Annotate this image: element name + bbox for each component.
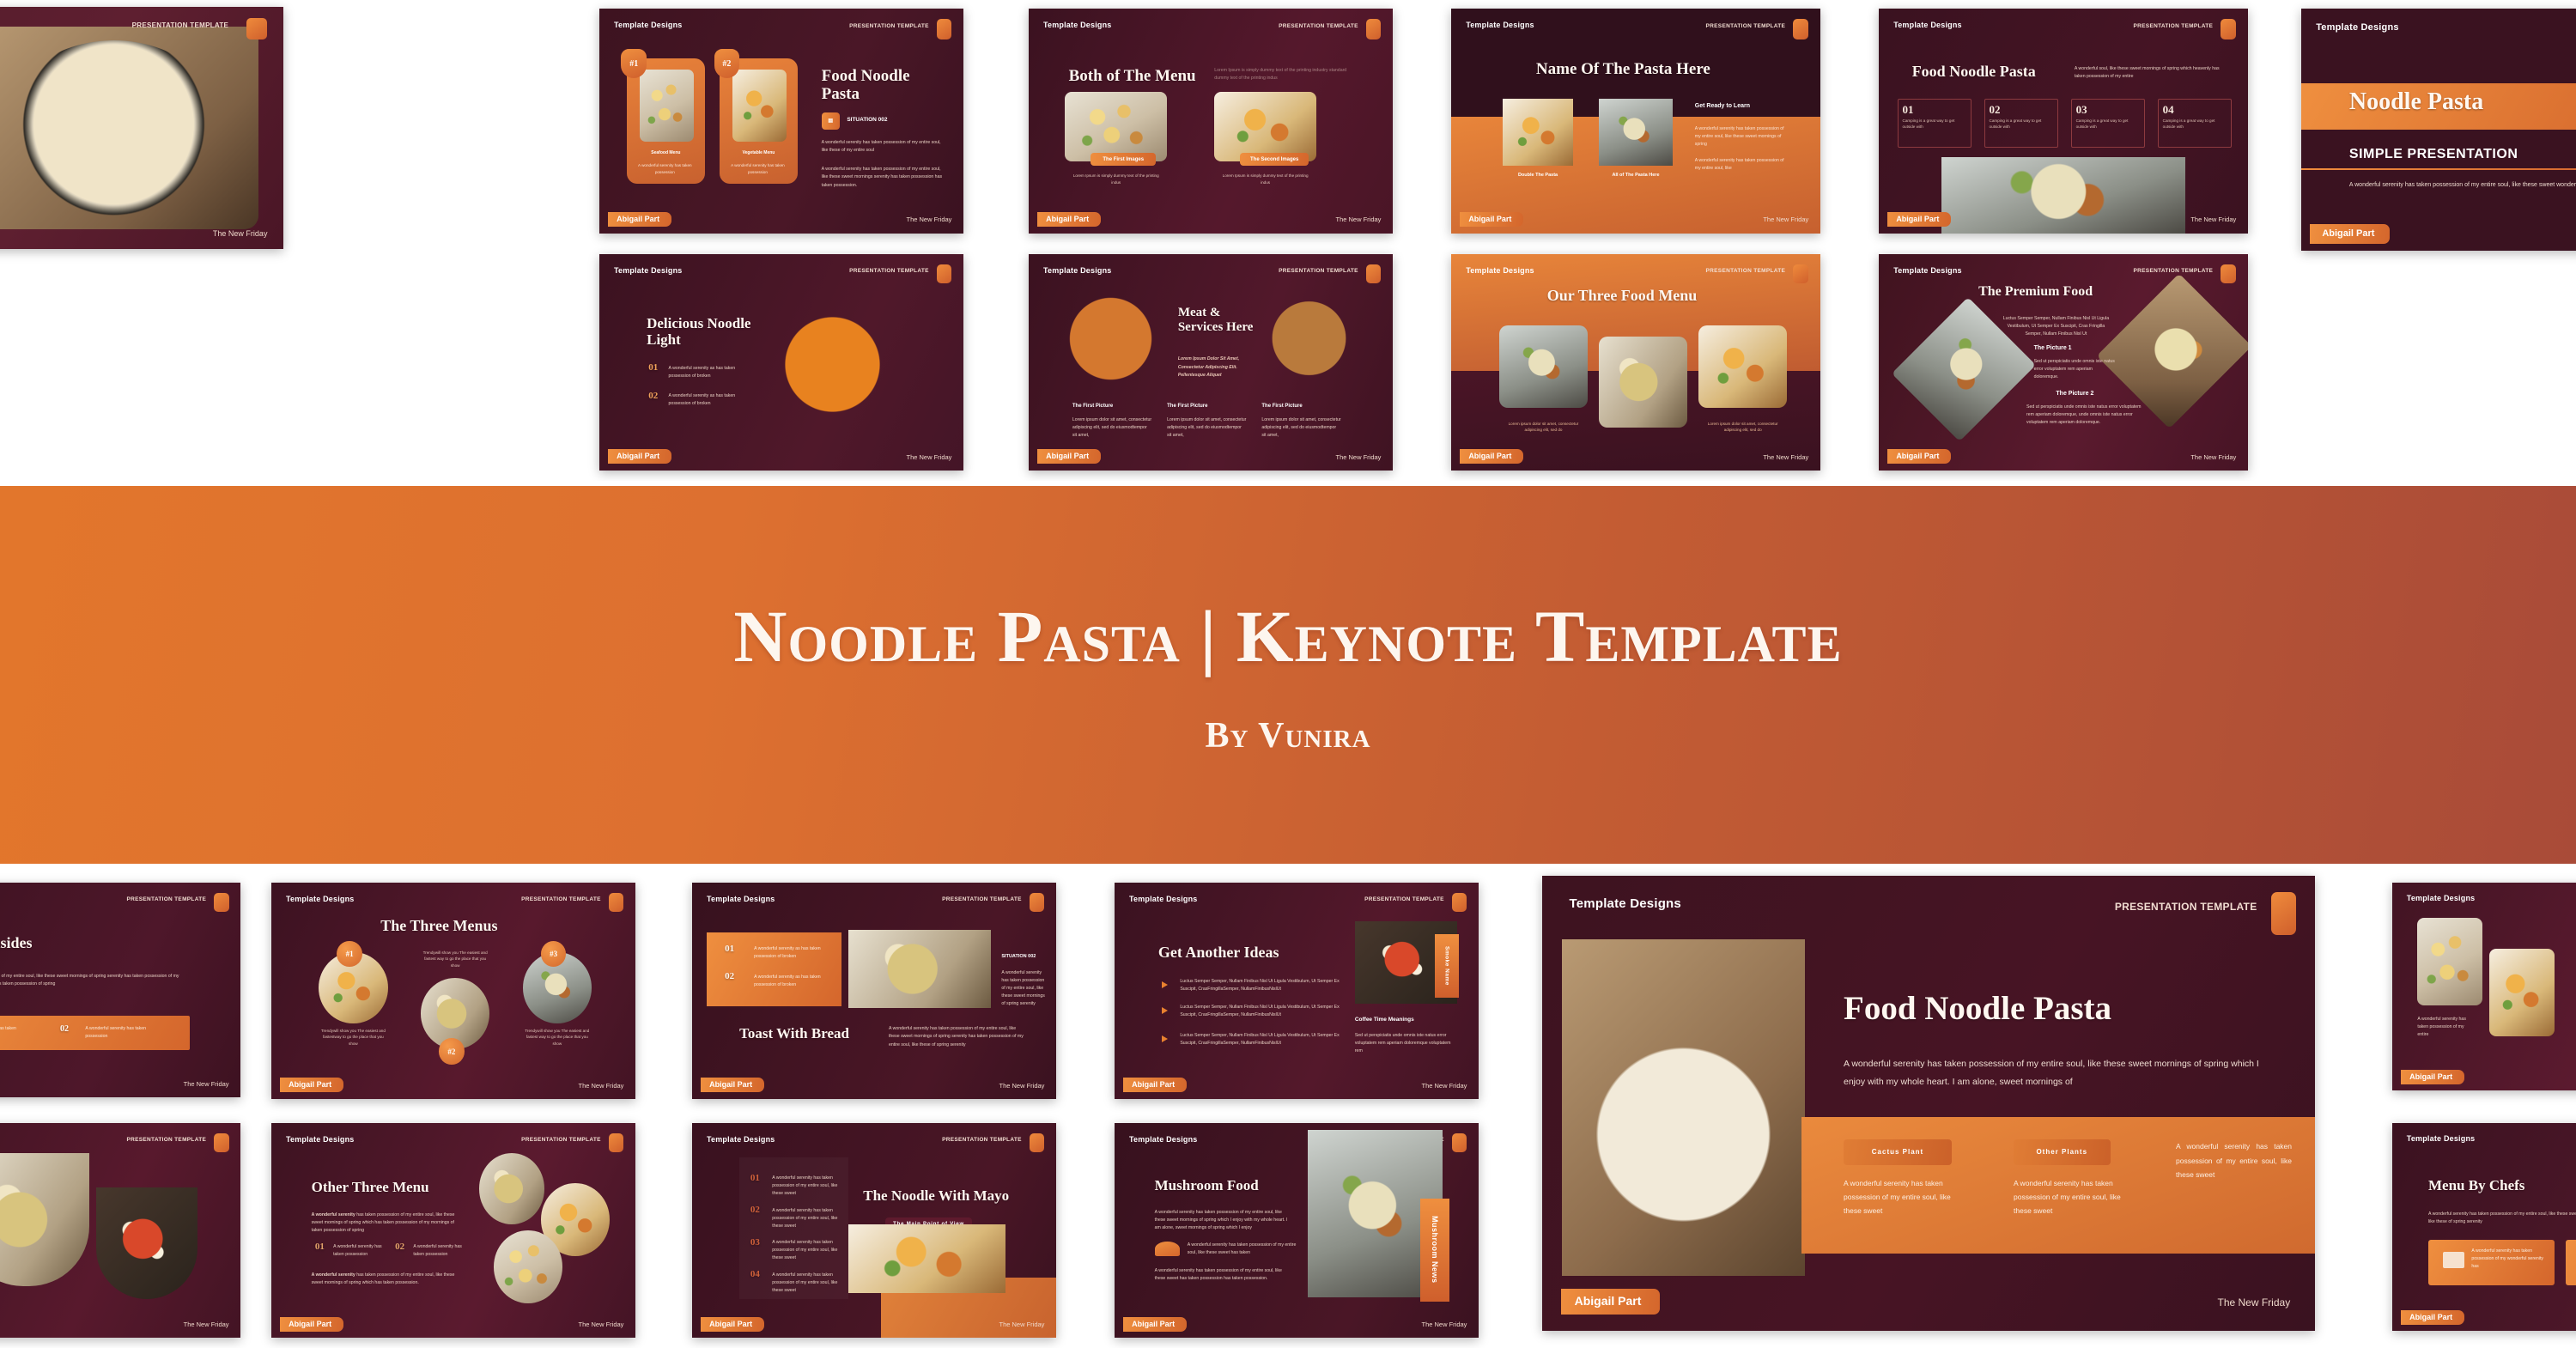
brand-left: Template Designs xyxy=(1043,266,1112,275)
slide-the-premium-food[interactable]: Template Designs PRESENTATION TEMPLATE T… xyxy=(1879,254,2248,471)
slide-title: Minimum Insides xyxy=(0,934,33,951)
card-1-number: #1 xyxy=(621,49,647,78)
brand-left: Template Designs xyxy=(1129,895,1198,903)
footer-right: The New Friday xyxy=(2190,216,2236,223)
slide-title: Other Three Menu xyxy=(312,1179,429,1195)
brand-left: Template Designs xyxy=(707,895,775,903)
footer-left: Abigail Part xyxy=(701,1317,764,1332)
title-side-note: Lorem Ipsum is simply dummy text of the … xyxy=(1214,67,1360,82)
slide-noodle-pasta-simple[interactable]: Template Designs Noodle Pasta SIMPLE PRE… xyxy=(2301,9,2576,251)
item-4-number: 04 xyxy=(750,1269,760,1279)
orange-square-badge-icon xyxy=(1366,19,1382,39)
slide-title: Toast With Bread xyxy=(739,1025,849,1041)
item-1-text: A wonderful serenity has taken possessio… xyxy=(333,1243,384,1259)
orange-square-badge-icon xyxy=(1793,264,1808,284)
slide-right-photos[interactable]: Template Designs A wonderful serenity ha… xyxy=(2392,883,2576,1090)
footer-left: Abigail Part xyxy=(608,212,671,227)
image-1-caption: Lorem Ipsum is simply dummy text of the … xyxy=(1072,173,1160,185)
slide-meat-services[interactable]: Template Designs PRESENTATION TEMPLATE M… xyxy=(1029,254,1393,471)
brand-right: PRESENTATION TEMPLATE xyxy=(1279,23,1358,29)
card-text: A wonderful serenity has taken possessio… xyxy=(2471,1248,2543,1271)
card-1-text: A wonderful serenity has taken possessio… xyxy=(635,162,694,175)
orange-square-badge-icon xyxy=(1030,1133,1045,1153)
slide-title: Menu By Chefs xyxy=(2428,1177,2524,1193)
caption-2: Lorem ipsum dolor sit amet, consectetur … xyxy=(1698,421,1787,434)
column-3-heading: The First Picture xyxy=(1261,404,1302,409)
orange-square-badge-icon xyxy=(1793,19,1808,39)
slide-title: Both of The Menu xyxy=(1069,67,1196,85)
menu-1-text: Trendywill show you The easiest and fast… xyxy=(319,1028,388,1047)
brand-right: PRESENTATION TEMPLATE xyxy=(2134,268,2214,274)
item-3-text: A wonderful serenity has taken possessio… xyxy=(772,1239,837,1262)
brand-left: Template Designs xyxy=(1893,266,1962,275)
slide-body: A wonderful serenity has taken possessio… xyxy=(2428,1211,2576,1226)
footer-left: Abigail Part xyxy=(1460,449,1523,464)
numbered-box: 02 Camping is a great way to get outside… xyxy=(1984,99,2058,149)
box-text: Camping is a great way to get outside wi… xyxy=(2163,118,2227,131)
slide-body: A wonderful serenity has taken possessio… xyxy=(0,973,190,988)
orange-square-badge-icon xyxy=(2221,264,2236,284)
box-number: 02 xyxy=(1990,103,2053,117)
brand-right: PRESENTATION TEMPLATE xyxy=(1706,268,1786,274)
item-4-text: A wonderful serenity has taken possessio… xyxy=(772,1272,837,1295)
orange-square-badge-icon xyxy=(937,264,952,284)
orange-square-badge-icon xyxy=(1366,264,1382,284)
item-1-number: 01 xyxy=(648,362,658,373)
card-2-caption: Vegetable Menu xyxy=(720,150,798,155)
box-number: 03 xyxy=(2076,103,2140,117)
brand-right: PRESENTATION TEMPLATE xyxy=(521,896,601,902)
item-2-text: A wonderful serenity has taken possessio… xyxy=(85,1025,150,1041)
slide-title: Name Of The Pasta Here xyxy=(1536,60,1765,78)
slide-name-of-the-pasta[interactable]: Template Designs PRESENTATION TEMPLATE N… xyxy=(1451,9,1820,234)
box-text: Camping is a great way to get outside wi… xyxy=(2076,118,2140,131)
item-1-text: A wonderful serenity has taken possessio… xyxy=(772,1175,837,1198)
image-1-label: The First Images xyxy=(1091,153,1156,167)
orange-square-badge-icon xyxy=(1452,1133,1467,1153)
slide-noodle-with-mayo[interactable]: Template Designs PRESENTATION TEMPLATE 0… xyxy=(692,1123,1056,1338)
slide-delicious-noodle-light[interactable]: Template Designs PRESENTATION TEMPLATE D… xyxy=(599,254,963,471)
item-2-text: A wonderful serenity has taken possessio… xyxy=(413,1243,464,1259)
column-2-tag: Other Plants xyxy=(2014,1139,2111,1164)
column-1-text: Lorem ipsum dolor sit amet, consectetur … xyxy=(1072,416,1152,440)
footer-right: The New Friday xyxy=(579,1082,624,1090)
slide-other-three-menu[interactable]: Template Designs PRESENTATION TEMPLATE O… xyxy=(271,1123,635,1338)
paragraph-2: A wonderful serenity has taken possessio… xyxy=(822,166,945,189)
slide-title: Food Noodle Pasta xyxy=(1844,990,2111,1028)
slide-mushroom-food[interactable]: Template Designs PRESENTATION TEMPLATE M… xyxy=(1115,1123,1479,1338)
food-cloche-icon xyxy=(1155,1242,1181,1257)
brand-right: PRESENTATION TEMPLATE xyxy=(127,896,207,902)
footer-left: Abigail Part xyxy=(1123,1317,1187,1332)
item-2-number: 02 xyxy=(750,1205,760,1215)
orange-square-badge-icon xyxy=(2271,892,2296,935)
brand-right: PRESENTATION TEMPLATE xyxy=(2115,901,2257,913)
column-1-heading: The First Picture xyxy=(1072,404,1113,409)
card-2-number: #2 xyxy=(714,49,740,78)
slide-title: Food Noodle Pasta xyxy=(822,67,949,104)
brand-right: PRESENTATION TEMPLATE xyxy=(1706,23,1786,29)
footer-left: Abigail Part xyxy=(1037,449,1101,464)
lead-strong: A wonderful serenity xyxy=(312,1212,355,1217)
image-2-caption: All of The Pasta Here xyxy=(1599,173,1673,178)
box-number: 01 xyxy=(1903,103,1966,117)
item-1-number: 01 xyxy=(725,944,734,954)
footer-left: Abigail Part xyxy=(1123,1078,1187,1092)
folder-icon xyxy=(2443,1252,2464,1268)
brand-left: Template Designs xyxy=(614,21,683,29)
slide-title: Delicious Noodle Light xyxy=(647,315,756,348)
side-paragraph-2: A wonderful serenity has taken possessio… xyxy=(1695,157,1791,173)
slide-title: Meat & Services Here xyxy=(1178,306,1262,335)
item-1-text: A wonderful serenity as has taken posses… xyxy=(669,365,756,380)
bottom-slide-grid: PRESENTATION TEMPLATE Minimum Insides A … xyxy=(0,867,2576,1348)
slide-the-three-menus[interactable]: Template Designs PRESENTATION TEMPLATE T… xyxy=(271,883,635,1099)
footer-left: Abigail Part xyxy=(608,449,671,464)
mushroom-news-tab: Mushroom News xyxy=(1420,1199,1449,1302)
section-2-heading: The Picture 2 xyxy=(2056,391,2093,397)
slide-food-noodle-pasta-cards[interactable]: Template Designs PRESENTATION TEMPLATE #… xyxy=(599,9,963,234)
slide-title: Food Noodle Pasta xyxy=(1912,63,2036,80)
slide-our-three-food-menu[interactable]: Template Designs PRESENTATION TEMPLATE O… xyxy=(1451,254,1820,471)
image-2-caption: Lorem Ipsum is simply dummy text of the … xyxy=(1222,173,1309,185)
brand-left: Template Designs xyxy=(614,266,683,275)
slide-highlight: A wonderful serenity has taken possessio… xyxy=(1188,1242,1297,1257)
slide-body: A wonderful serenity has taken possessio… xyxy=(889,1025,1027,1048)
brand-left: Template Designs xyxy=(2316,22,2399,33)
side-heading: Coffee Time Meanings xyxy=(1355,1017,1414,1023)
numbered-box: 03 Camping is a great way to get outside… xyxy=(2071,99,2145,149)
column-3-text: A wonderful serenity has taken possessio… xyxy=(2176,1139,2292,1181)
item-2-number: 02 xyxy=(395,1242,404,1252)
menu-3-text: Trendywill show you The easiest and fast… xyxy=(523,1028,592,1047)
box-text: Camping is a great way to get outside wi… xyxy=(1903,118,1966,131)
slide-body: A wonderful serenity has taken possessio… xyxy=(1155,1209,1293,1232)
footer-left: Abigail Part xyxy=(1460,212,1523,227)
footer-right: The New Friday xyxy=(999,1082,1045,1090)
side-text: Sed ut perspiciatis unde omnis iste natu… xyxy=(1355,1032,1457,1055)
brand-left: Template Designs xyxy=(707,1135,775,1144)
orange-square-badge-icon xyxy=(1030,893,1045,913)
footer-left: Abigail Part xyxy=(2401,1070,2464,1084)
footer-right: The New Friday xyxy=(213,229,268,238)
bullet-arrow-icon xyxy=(1162,981,1168,988)
brand-right: PRESENTATION TEMPLATE xyxy=(849,268,929,274)
box-text: Camping is a great way to get outside wi… xyxy=(1990,118,2053,131)
brand-left: Template Designs xyxy=(2407,894,2476,902)
bullet-2: Luctus Semper Semper, Nullam Finibus Nis… xyxy=(1180,1004,1344,1019)
numbered-box: 04 Camping is a great way to get outside… xyxy=(2158,99,2232,149)
brand-right: PRESENTATION TEMPLATE xyxy=(521,1137,601,1143)
brand-right: PRESENTATION TEMPLATE xyxy=(1279,268,1358,274)
smoke-name-tab: Smoke Name xyxy=(1435,934,1459,997)
orange-square-badge-icon xyxy=(1452,893,1467,913)
side-paragraph-1: A wonderful serenity has taken possessio… xyxy=(1695,125,1791,149)
brand-left: Template Designs xyxy=(2407,1134,2476,1143)
slide-minimum-insides[interactable]: PRESENTATION TEMPLATE Minimum Insides A … xyxy=(0,883,240,1097)
column-2-text: A wonderful serenity has taken possessio… xyxy=(2014,1176,2137,1217)
box-number: 04 xyxy=(2163,103,2227,117)
item-3-number: 03 xyxy=(750,1237,760,1248)
brand-left: Template Designs xyxy=(1043,21,1112,29)
slide-title: Mushroom Food xyxy=(1155,1177,1259,1193)
menu-2-number: #2 xyxy=(439,1038,465,1064)
section-1-heading: The Picture 1 xyxy=(2034,345,2072,351)
item-2-text: A wonderful serenity has taken possessio… xyxy=(772,1207,837,1230)
footer-left: Abigail Part xyxy=(2401,1310,2464,1325)
section-1-text: Sed ut perspiciatis unde omnis iste natu… xyxy=(2034,358,2116,381)
orange-square-badge-icon xyxy=(214,1133,229,1153)
footer-left: Abigail Part xyxy=(1561,1289,1661,1315)
situation-icon: ▤ xyxy=(822,112,840,131)
bullet-1: Luctus Semper Semper, Nullam Finibus Nis… xyxy=(1180,978,1344,993)
slide-title: Our Three Food Menu xyxy=(1547,287,1698,304)
orange-square-badge-icon xyxy=(609,1133,624,1153)
slide-menu-by-chefs[interactable]: Template Designs Menu By Chefs A wonderf… xyxy=(2392,1123,2576,1331)
numbered-box: 01 Camping is a great way to get outside… xyxy=(1898,99,1971,149)
photos-text: A wonderful serenity has taken possessio… xyxy=(2417,1016,2475,1039)
orange-square-badge-icon xyxy=(214,893,229,913)
slide-title: The Noodle With Mayo xyxy=(863,1187,1009,1204)
footer-right: The New Friday xyxy=(907,453,952,461)
template-preview-page: asta ON my entire PRESENTATION TEMPLATE … xyxy=(0,0,2576,1348)
brand-right: PRESENTATION TEMPLATE xyxy=(1364,896,1444,902)
slide-food-noodle-numbers[interactable]: Template Designs PRESENTATION TEMPLATE F… xyxy=(1879,9,2248,234)
slide-both-of-the-menu[interactable]: Template Designs PRESENTATION TEMPLATE B… xyxy=(1029,9,1393,234)
brand-right: PRESENTATION TEMPLATE xyxy=(2134,23,2214,29)
caption-1: Lorem ipsum dolor sit amet, consectetur … xyxy=(1499,421,1588,434)
promo-author: By Vunira xyxy=(1205,715,1370,756)
footer-right: The New Friday xyxy=(1422,1082,1467,1090)
footer-right: The New Friday xyxy=(1763,216,1808,223)
menu-1-number: #1 xyxy=(337,941,362,967)
footer-right: The New Friday xyxy=(1336,453,1382,461)
brand-left: Template Designs xyxy=(286,1135,355,1144)
slide-title: Get Another Ideas xyxy=(1158,944,1279,961)
card-1-caption: Seafood Menu xyxy=(627,150,705,155)
slide-title: The Premium Food xyxy=(1978,284,2093,300)
footer-left: Abigail Part xyxy=(2310,224,2390,244)
column-1-text: A wonderful serenity has taken possessio… xyxy=(1844,1176,1967,1217)
brand-right: PRESENTATION TEMPLATE xyxy=(127,1137,207,1143)
promo-banner: Noodle Pasta | Keynote Template By Vunir… xyxy=(0,486,2576,864)
slide-chef-photos[interactable]: PRESENTATION TEMPLATE soul, like these m… xyxy=(0,1123,240,1338)
item-2-text: A wonderful serenity as has taken posses… xyxy=(669,392,756,408)
side-text: A wonderful serenity has taken possessio… xyxy=(1001,969,1045,1008)
slide-body: A wonderful serenity has taken possessio… xyxy=(1844,1055,2276,1091)
footnote-strong: A wonderful serenity xyxy=(312,1272,355,1278)
bullet-3: Luctus Semper Semper, Nullam Finibus Nis… xyxy=(1180,1032,1344,1047)
item-1-number: 01 xyxy=(315,1242,325,1252)
orange-square-badge-icon xyxy=(937,19,952,39)
slide-featured-food-noodle-pasta[interactable]: Template Designs PRESENTATION TEMPLATE F… xyxy=(1542,876,2315,1331)
orange-square-badge-icon xyxy=(2221,19,2236,39)
bullet-arrow-icon xyxy=(1162,1007,1168,1014)
footer-left: Abigail Part xyxy=(1037,212,1101,227)
column-2-text: Lorem ipsum dolor sit amet, consectetur … xyxy=(1167,416,1247,440)
slide-cover[interactable]: asta ON my entire PRESENTATION TEMPLATE … xyxy=(0,7,283,249)
side-heading: Get Ready to Learn xyxy=(1695,103,1750,109)
item-2-number: 02 xyxy=(60,1024,69,1034)
footer-right: The New Friday xyxy=(2218,1296,2291,1309)
footer-left: Abigail Part xyxy=(1887,449,1951,464)
orange-square-badge-icon xyxy=(609,893,624,913)
brand-left: Template Designs xyxy=(1466,266,1534,275)
top-slide-grid: asta ON my entire PRESENTATION TEMPLATE … xyxy=(0,0,2576,481)
brand-right: PRESENTATION TEMPLATE xyxy=(849,23,929,29)
situation-label: SITUATION 002 xyxy=(847,117,887,123)
slide-lead: Lorem Ipsum Dolor Sit Amet, Consectetur … xyxy=(1178,355,1258,379)
brand-right: PRESENTATION TEMPLATE xyxy=(942,1137,1022,1143)
column-2-heading: The First Picture xyxy=(1167,404,1207,409)
footer-right: The New Friday xyxy=(184,1321,229,1328)
footer-right: The New Friday xyxy=(999,1321,1045,1328)
slide-body: A wonderful serenity has taken possessio… xyxy=(2349,180,2576,191)
footer-right: The New Friday xyxy=(907,216,952,223)
slide-subtitle: SIMPLE PRESENTATION xyxy=(2349,147,2518,162)
brand-left: Template Designs xyxy=(1129,1135,1198,1144)
promo-title: Noodle Pasta | Keynote Template xyxy=(733,593,1842,679)
situation-label: SITUATION 002 xyxy=(1001,954,1036,959)
brand-left: Template Designs xyxy=(286,895,355,903)
item-1-text: A wonderful serenity has taken possessio… xyxy=(0,1025,21,1041)
slide-intro: A wonderful soul, like these sweet morni… xyxy=(2075,65,2230,81)
item-2-number: 02 xyxy=(725,971,734,981)
column-1-tag: Cactus Plant xyxy=(1844,1139,1952,1164)
footer-right: The New Friday xyxy=(1336,216,1382,223)
menu-2-text: Trendywill show you The easiest and fast… xyxy=(421,950,490,968)
image-2-label: The Second Images xyxy=(1240,153,1309,167)
footer-left: Abigail Part xyxy=(280,1078,343,1092)
bullet-arrow-icon xyxy=(1162,1035,1168,1042)
slide-toast-with-bread[interactable]: Template Designs PRESENTATION TEMPLATE 0… xyxy=(692,883,1056,1099)
footer-right: The New Friday xyxy=(579,1321,624,1328)
brand-right: PRESENTATION TEMPLATE xyxy=(132,21,229,29)
brand-right: PRESENTATION TEMPLATE xyxy=(942,896,1022,902)
section-2-text: Sed ut perspiciatis unde omnis iste natu… xyxy=(2026,404,2145,427)
column-3-text: Lorem ipsum dolor sit amet, consectetur … xyxy=(1261,416,1341,440)
card-2-text: A wonderful serenity has taken possessio… xyxy=(729,162,787,175)
footer-left: Abigail Part xyxy=(280,1317,343,1332)
brand-left: Template Designs xyxy=(1893,21,1962,29)
footer-right: The New Friday xyxy=(1422,1321,1467,1328)
item-2-number: 02 xyxy=(648,391,658,401)
item-2-text: A wonderful serenity as has taken posses… xyxy=(754,974,827,989)
image-1-caption: Double The Pasta xyxy=(1503,173,1573,178)
footer-left: Abigail Part xyxy=(1887,212,1951,227)
slide-get-another-ideas[interactable]: Template Designs PRESENTATION TEMPLATE G… xyxy=(1115,883,1479,1099)
footer-right: The New Friday xyxy=(1763,453,1808,461)
brand-left: Template Designs xyxy=(1570,896,1681,911)
footer-left: Abigail Part xyxy=(701,1078,764,1092)
slide-footnote: A wonderful serenity has taken possessio… xyxy=(1155,1267,1293,1283)
item-1-text: A wonderful serenity as has taken posses… xyxy=(754,945,827,961)
brand-left: Template Designs xyxy=(1466,21,1534,29)
orange-square-badge-icon xyxy=(246,18,267,39)
slide-intro: Luctus Semper Semper, Nullam Finibus Nis… xyxy=(2001,315,2111,338)
footer-right: The New Friday xyxy=(2190,453,2236,461)
item-1-number: 01 xyxy=(750,1173,760,1183)
footer-right: The New Friday xyxy=(184,1080,229,1088)
slide-title: The Three Menus xyxy=(380,917,497,934)
slide-title: Noodle Pasta xyxy=(2349,88,2483,115)
paragraph-1: A wonderful serenity has taken possessio… xyxy=(822,139,945,155)
